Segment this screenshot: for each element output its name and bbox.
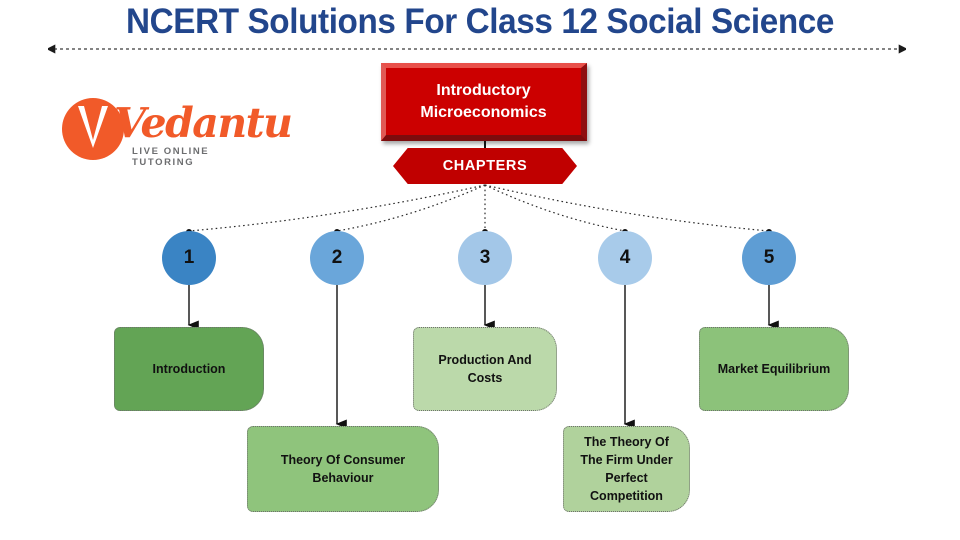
vedantu-v-inner-icon <box>84 106 102 140</box>
chapter-box-5[interactable]: Market Equilibrium <box>699 327 849 411</box>
chapter-box-1[interactable]: Introduction <box>114 327 264 411</box>
chapters-banner: CHAPTERS <box>393 148 577 184</box>
chapter-number-label: 5 <box>764 247 775 269</box>
chapter-box-label: Theory Of Consumer Behaviour <box>258 451 428 487</box>
dotted-connector <box>189 185 485 231</box>
dotted-connector <box>485 185 625 231</box>
chapter-box-label: Market Equilibrium <box>718 360 831 378</box>
diagram-canvas: NCERT Solutions For Class 12 Social Scie… <box>0 0 960 540</box>
page-title: NCERT Solutions For Class 12 Social Scie… <box>24 2 936 42</box>
title-divider-arrow <box>48 44 906 54</box>
dotted-connector <box>485 185 769 231</box>
chapter-box-4[interactable]: The Theory Of The Firm Under Perfect Com… <box>563 426 690 512</box>
chapter-number-circle-2[interactable]: 2 <box>310 231 364 285</box>
chapter-number-label: 3 <box>480 247 491 269</box>
root-node-label: Introductory Microeconomics <box>386 80 581 123</box>
chapter-number-label: 4 <box>620 247 631 269</box>
chapter-box-label: Production And Costs <box>424 351 546 387</box>
dotted-connector <box>337 185 485 231</box>
chapter-number-circle-4[interactable]: 4 <box>598 231 652 285</box>
root-node-introductory-microeconomics[interactable]: Introductory Microeconomics <box>381 63 587 141</box>
vedantu-tagline: LIVE ONLINE TUTORING <box>132 146 272 168</box>
chapter-number-circle-5[interactable]: 5 <box>742 231 796 285</box>
vedantu-logo: Vedantu LIVE ONLINE TUTORING <box>62 96 272 168</box>
chapter-box-label: The Theory Of The Firm Under Perfect Com… <box>574 433 679 506</box>
chapter-number-circle-1[interactable]: 1 <box>162 231 216 285</box>
chapter-number-label: 1 <box>184 247 195 269</box>
chapters-banner-label: CHAPTERS <box>443 158 528 174</box>
vedantu-wordmark: Vedantu <box>114 99 291 147</box>
chapter-number-circle-3[interactable]: 3 <box>458 231 512 285</box>
chapter-number-label: 2 <box>332 247 343 269</box>
chapter-box-3[interactable]: Production And Costs <box>413 327 557 411</box>
chapter-box-2[interactable]: Theory Of Consumer Behaviour <box>247 426 439 512</box>
chapter-box-label: Introduction <box>153 360 226 378</box>
